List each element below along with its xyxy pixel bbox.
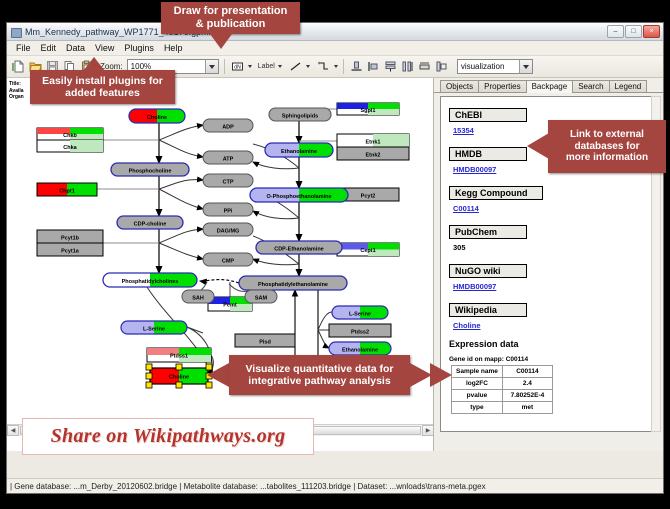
svg-text:O-Phosphoethanolamine: O-Phosphoethanolamine	[266, 194, 331, 200]
callout-link-line1: Link to external	[570, 129, 644, 140]
backpage-heading-kegg: Kegg Compound	[449, 186, 543, 200]
svg-text:Ethanolamine: Ethanolamine	[281, 149, 317, 155]
tab-backpage[interactable]: Backpage	[526, 80, 574, 93]
svg-text:CDP-choline: CDP-choline	[134, 222, 167, 228]
svg-text:CTP: CTP	[223, 180, 234, 186]
node-ethanolamine-top: Ethanolamine	[265, 143, 333, 157]
svg-text:Cept1: Cept1	[360, 248, 375, 254]
svg-text:CDP-Ethanolamine: CDP-Ethanolamine	[274, 247, 324, 253]
node-l-serine-right: L-Serine	[332, 306, 388, 319]
node-dagmg: DAG/MG	[203, 223, 253, 236]
svg-text:DAG/MG: DAG/MG	[217, 229, 240, 235]
svg-text:L-Serine: L-Serine	[143, 327, 165, 333]
backpage-heading-nugo: NuGO wiki	[449, 264, 527, 278]
callout-link-line3: more information	[566, 152, 648, 163]
node-cdp-choline: CDP-choline	[117, 216, 183, 229]
callout-plugins-line2: added features	[65, 87, 140, 99]
svg-text:Ethanolamine: Ethanolamine	[342, 348, 378, 354]
tab-search[interactable]: Search	[572, 80, 609, 92]
statusbar-text: | Gene database: ...m_Derby_20120602.bri…	[10, 482, 486, 491]
callout-plugins-arrow-icon	[83, 57, 105, 71]
svg-text:Pcyt1a: Pcyt1a	[61, 249, 80, 255]
line-chevron-down-icon[interactable]	[306, 65, 310, 68]
tab-legend[interactable]: Legend	[609, 80, 648, 92]
distribute-horizontal-icon[interactable]	[400, 59, 415, 74]
callout-vis-right-arrow-icon-2	[430, 363, 452, 387]
menu-item-edit[interactable]: Edit	[36, 43, 62, 53]
app-icon	[10, 26, 21, 37]
svg-text:Etnk1: Etnk1	[366, 140, 381, 146]
svg-text:Pemt: Pemt	[223, 303, 237, 309]
menu-item-file[interactable]: File	[11, 43, 36, 53]
callout-link-arrow-icon	[527, 133, 549, 159]
node-o-phosphoethanolamine: O-Phosphoethanolamine	[250, 188, 348, 202]
window-titlebar: Mm_Kennedy_pathway_WP1771_45176.gpml – □…	[7, 23, 663, 41]
zoom-chevron-down-icon[interactable]	[205, 60, 218, 73]
visualization-value: visualization	[461, 62, 505, 71]
gene-box-pcyt1b: Pcyt1b	[37, 230, 103, 243]
stack-vertical-icon[interactable]	[383, 59, 398, 74]
svg-text:dN: dN	[234, 65, 241, 71]
menubar: File Edit Data View Plugins Help	[7, 41, 663, 56]
gene-box-etnk1: Etnk1	[337, 134, 409, 147]
scroll-left-icon[interactable]: ◀	[7, 425, 19, 436]
expression-data-title: Expression data	[449, 339, 654, 349]
label-chevron-down-icon[interactable]	[278, 65, 282, 68]
scroll-right-icon[interactable]: ▶	[422, 425, 434, 436]
menu-item-help[interactable]: Help	[159, 43, 188, 53]
svg-text:Sgpl1: Sgpl1	[361, 108, 376, 114]
connector-icon[interactable]	[316, 59, 331, 74]
line-icon[interactable]	[288, 59, 303, 74]
gene-box-pcyt1a: Pcyt1a	[37, 243, 103, 256]
menu-item-view[interactable]: View	[90, 43, 119, 53]
backpage-heading-chebi: ChEBI	[449, 108, 527, 122]
node-choline-selected: Choline	[146, 364, 212, 388]
svg-text:SAM: SAM	[255, 296, 268, 302]
visualization-chevron-down-icon[interactable]	[519, 60, 532, 73]
datanode-icon[interactable]: dN	[230, 59, 245, 74]
callout-draw-line1: Draw for presentation	[174, 5, 288, 17]
node-sphingolipids: Sphingolipids	[269, 108, 331, 121]
connector-chevron-down-icon[interactable]	[334, 65, 338, 68]
node-ctp: CTP	[203, 174, 253, 187]
backpage-heading-pubchem: PubChem	[449, 225, 527, 239]
callout-plugins-line1: Easily install plugins for	[42, 75, 163, 87]
backpage-link-wikipedia[interactable]: Choline	[453, 321, 654, 330]
close-button[interactable]: ×	[643, 25, 660, 38]
callout-draw: Draw for presentation & publication	[161, 2, 300, 34]
table-row: pvalue 7.80252E-4	[452, 390, 553, 402]
window-controls: – □ ×	[607, 25, 660, 38]
gene-box-cept1: Cept1	[337, 243, 399, 256]
screenshot-root: Mm_Kennedy_pathway_WP1771_45176.gpml – □…	[0, 0, 670, 509]
svg-text:Ptdss2: Ptdss2	[351, 330, 369, 336]
cell-key: pvalue	[452, 390, 503, 402]
size-common-icon[interactable]	[417, 59, 432, 74]
node-choline-top: Choline	[129, 109, 185, 123]
cell-value: met	[502, 402, 552, 414]
menu-item-data[interactable]: Data	[61, 43, 90, 53]
svg-text:Chka: Chka	[63, 145, 77, 151]
statusbar: | Gene database: ...m_Derby_20120602.bri…	[7, 478, 663, 493]
svg-text:Phosphatidylcholines: Phosphatidylcholines	[122, 279, 179, 285]
gene-box-pisd: Pisd	[235, 334, 295, 347]
svg-text:PPi: PPi	[224, 209, 233, 215]
svg-text:ADP: ADP	[222, 125, 234, 131]
svg-text:ATP: ATP	[223, 157, 234, 163]
svg-text:SAH: SAH	[192, 296, 204, 302]
gene-box-chpt1: Chpt1	[37, 183, 97, 196]
callout-vis-left-arrow-icon	[207, 363, 229, 387]
maximize-button[interactable]: □	[625, 25, 642, 38]
cell-key: type	[452, 402, 503, 414]
menu-item-plugins[interactable]: Plugins	[119, 43, 159, 53]
node-l-serine-left: L-Serine	[121, 321, 187, 334]
gene-box-ptdss2: Ptdss2	[329, 324, 391, 337]
svg-text:Pisd: Pisd	[259, 340, 271, 346]
table-row: Sample name C00114	[452, 366, 553, 378]
svg-text:Pcyt2: Pcyt2	[361, 194, 376, 200]
callout-vis-line1: Visualize quantitative data for	[245, 363, 393, 375]
callout-share: Share on Wikipathways.org	[22, 418, 314, 455]
node-adp: ADP	[203, 119, 253, 132]
callout-link-line2: databases for	[574, 141, 639, 152]
tab-properties[interactable]: Properties	[478, 80, 526, 92]
svg-text:Phosphocholine: Phosphocholine	[129, 169, 172, 175]
svg-text:Sphingolipids: Sphingolipids	[282, 114, 318, 120]
node-cmp: CMP	[203, 253, 253, 266]
gene-id-line: Gene id on mapp: C00114	[449, 356, 654, 363]
toolbar-separator	[224, 59, 225, 74]
callout-draw-arrow-icon	[210, 34, 232, 49]
node-atp: ATP	[203, 151, 253, 164]
cell-value: C00114	[502, 366, 552, 378]
backpage-link-kegg[interactable]: C00114	[453, 204, 654, 213]
svg-text:Ptdss1: Ptdss1	[170, 354, 188, 360]
svg-text:Choline: Choline	[147, 115, 167, 121]
svg-text:Pcyt1b: Pcyt1b	[61, 236, 80, 242]
tab-objects[interactable]: Objects	[440, 80, 479, 92]
node-ethanolamine-bottom: Ethanolamine	[329, 342, 391, 355]
callout-plugins: Easily install plugins for added feature…	[30, 70, 175, 104]
svg-text:Chkb: Chkb	[63, 133, 77, 139]
backpage-heading-hmdb: HMDB	[449, 147, 527, 161]
callout-vis-right-arrow-icon	[410, 363, 432, 387]
cell-value: 2.4	[502, 378, 552, 390]
node-ppi: PPi	[203, 203, 253, 216]
expression-data-table: Sample name C00114 log2FC 2.4 pvalue 7.8…	[451, 365, 553, 414]
align-left-icon[interactable]	[366, 59, 381, 74]
toolbar-separator-2	[343, 59, 344, 74]
label-tool-label[interactable]: Label	[258, 63, 275, 70]
node-phosphatidylethanolamine: Phosphatidylethanolamine	[239, 276, 347, 290]
svg-text:Choline: Choline	[169, 375, 189, 381]
gene-box-chka: Chka	[37, 140, 103, 152]
node-sam: SAM	[245, 290, 277, 303]
callout-vis-line2: integrative pathway analysis	[248, 375, 390, 387]
callout-share-text: Share on Wikipathways.org	[51, 425, 286, 448]
cell-key: log2FC	[452, 378, 503, 390]
backpage-heading-wikipedia: Wikipedia	[449, 303, 527, 317]
node-phosphatidylcholines: Phosphatidylcholines	[103, 273, 197, 287]
gene-box-chkb: Chkb	[37, 128, 103, 140]
svg-text:CMP: CMP	[222, 259, 235, 265]
svg-text:Chpt1: Chpt1	[59, 189, 75, 195]
callout-draw-line2: & publication	[196, 18, 266, 30]
cell-value: 7.80252E-4	[502, 390, 552, 402]
visualization-combo[interactable]: visualization	[457, 59, 533, 74]
cell-key: Sample name	[452, 366, 503, 378]
gene-box-ptdss1: Ptdss1	[147, 348, 211, 362]
order-front-icon[interactable]	[434, 59, 449, 74]
node-sah: SAH	[182, 290, 214, 303]
pathway-canvas[interactable]: Title: Availa Organ	[7, 78, 434, 451]
gene-box-etnk2: Etnk2	[337, 147, 409, 160]
callout-link: Link to external databases for more info…	[548, 120, 666, 173]
node-phosphocholine: Phosphocholine	[111, 163, 189, 176]
minimize-button[interactable]: –	[607, 25, 624, 38]
gene-box-sgpl1: Sgpl1	[337, 103, 399, 115]
datanode-chevron-down-icon[interactable]	[248, 65, 252, 68]
svg-text:Phosphatidylethanolamine: Phosphatidylethanolamine	[258, 282, 328, 288]
align-bottom-icon[interactable]	[349, 59, 364, 74]
new-file-icon[interactable]	[11, 59, 26, 74]
backpage-link-nugo[interactable]: HMDB00097	[453, 282, 654, 291]
callout-visualize: Visualize quantitative data for integrat…	[229, 355, 410, 395]
svg-text:Etnk2: Etnk2	[366, 153, 381, 159]
table-row: type met	[452, 402, 553, 414]
side-panel-tabs: Objects Properties Backpage Search Legen…	[434, 78, 663, 93]
node-cdp-ethanolamine: CDP-Ethanolamine	[256, 241, 342, 254]
backpage-value-pubchem: 305	[453, 243, 654, 252]
table-row: log2FC 2.4	[452, 378, 553, 390]
svg-text:L-Serine: L-Serine	[349, 312, 371, 318]
